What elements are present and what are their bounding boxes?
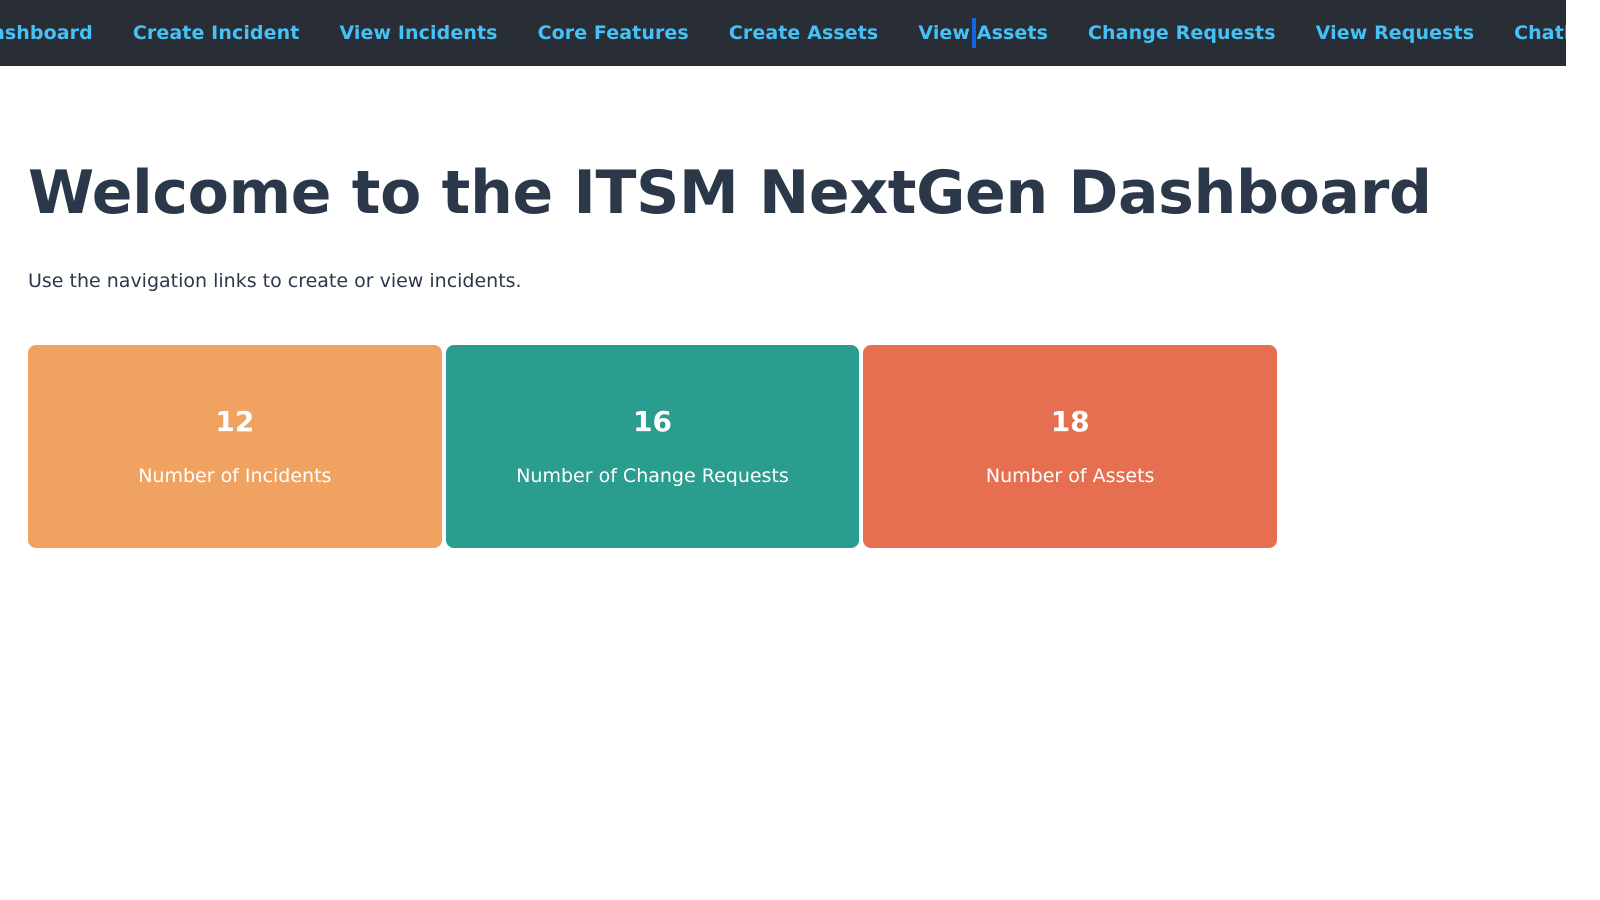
nav-link-core-features[interactable]: Core Features — [518, 0, 709, 66]
nav-item: Core Features — [518, 0, 709, 66]
nav-item: Chatbot — [1494, 0, 1566, 66]
nav-link-view-assets-label: View Assets — [918, 22, 1048, 44]
stat-value-change-requests: 16 — [633, 408, 672, 436]
nav-link-create-assets[interactable]: Create Assets — [709, 0, 899, 66]
stat-cards-row: 12 Number of Incidents 16 Number of Chan… — [28, 345, 1277, 548]
nav-link-view-incidents[interactable]: View Incidents — [319, 0, 517, 66]
nav-link-change-requests[interactable]: Change Requests — [1068, 0, 1296, 66]
top-navigation-bar: Dashboard Create Incident View Incidents… — [0, 0, 1566, 66]
stat-card-assets[interactable]: 18 Number of Assets — [863, 345, 1277, 548]
page-root: Dashboard Create Incident View Incidents… — [0, 0, 1600, 900]
browser-viewport: Dashboard Create Incident View Incidents… — [0, 0, 1566, 900]
stat-card-change-requests[interactable]: 16 Number of Change Requests — [446, 345, 860, 548]
nav-item: Change Requests — [1068, 0, 1296, 66]
nav-item: Create Assets — [709, 0, 899, 66]
nav-item: Create Incident — [113, 0, 320, 66]
stat-value-incidents: 12 — [215, 408, 254, 436]
scrollbar-gutter[interactable] — [1566, 0, 1600, 900]
nav-item: View Requests — [1296, 0, 1494, 66]
page-title: Welcome to the ITSM NextGen Dashboard — [28, 66, 1278, 225]
nav-link-view-requests[interactable]: View Requests — [1296, 0, 1494, 66]
nav-item: Dashboard — [0, 0, 113, 66]
nav-link-list: Dashboard Create Incident View Incidents… — [0, 0, 1566, 66]
stat-label-assets: Number of Assets — [986, 467, 1155, 486]
stat-label-change-requests: Number of Change Requests — [516, 467, 789, 486]
nav-link-create-incident[interactable]: Create Incident — [113, 0, 320, 66]
nav-link-dashboard[interactable]: Dashboard — [0, 0, 113, 66]
content-container: Welcome to the ITSM NextGen Dashboard Us… — [28, 66, 1278, 548]
nav-item: View Incidents — [319, 0, 517, 66]
nav-item: View Assets — [898, 0, 1068, 66]
main-content: Welcome to the ITSM NextGen Dashboard Us… — [0, 66, 1566, 548]
nav-link-chatbot[interactable]: Chatbot — [1494, 0, 1566, 66]
page-subtitle: Use the navigation links to create or vi… — [28, 225, 1278, 294]
stat-label-incidents: Number of Incidents — [138, 467, 331, 486]
nav-link-view-assets[interactable]: View Assets — [898, 0, 1068, 66]
stat-card-incidents[interactable]: 12 Number of Incidents — [28, 345, 442, 548]
stat-value-assets: 18 — [1051, 408, 1090, 436]
